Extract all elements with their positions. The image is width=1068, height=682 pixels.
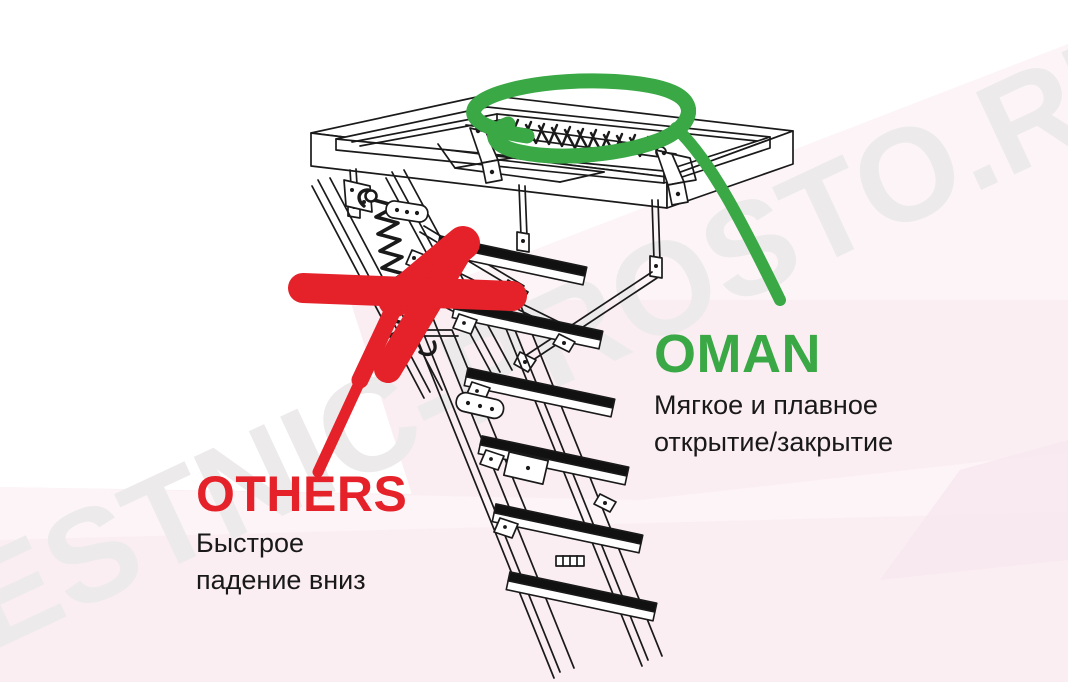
others-title: OTHERS — [196, 469, 536, 519]
others-subtitle-line1: Быстрое — [196, 525, 536, 562]
green-ellipse-highlight — [474, 81, 780, 300]
others-subtitle: Быстрое падение вниз — [196, 525, 536, 600]
red-arrow-marker — [303, 243, 512, 472]
illustration-canvas: LESTNIC-PROSTO.RU — [0, 0, 1068, 682]
callout-others: OTHERS Быстрое падение вниз — [196, 469, 536, 600]
oman-subtitle-line1: Мягкое и плавное — [654, 387, 1014, 424]
oman-subtitle-line2: открытие/закрытие — [654, 424, 1014, 461]
oman-subtitle: Мягкое и плавное открытие/закрытие — [654, 387, 1014, 462]
oman-title: OMAN — [654, 327, 1014, 381]
callout-oman: OMAN Мягкое и плавное открытие/закрытие — [654, 327, 1014, 462]
others-subtitle-line2: падение вниз — [196, 562, 536, 599]
